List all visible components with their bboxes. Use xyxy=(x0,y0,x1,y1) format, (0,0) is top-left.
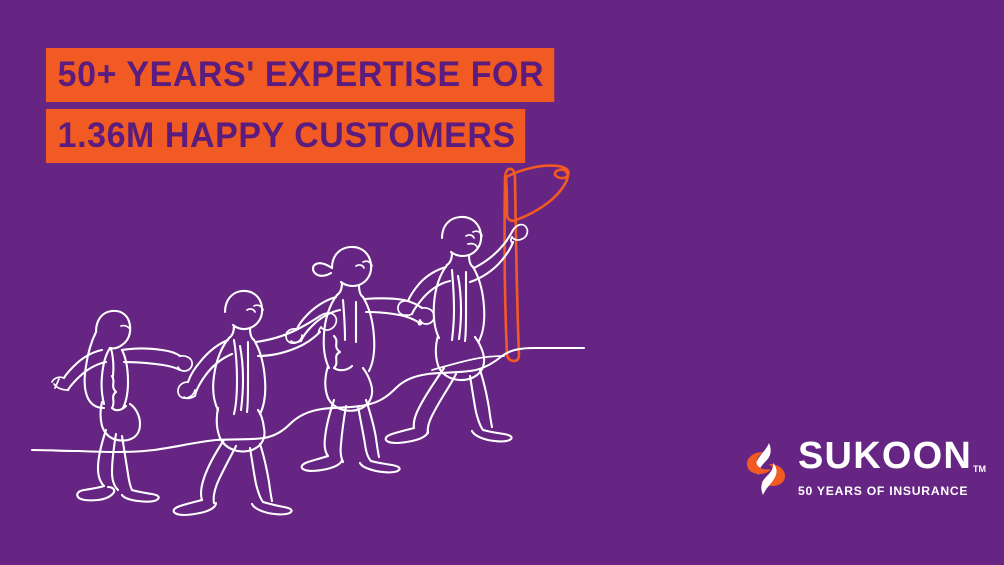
summit-flag-icon xyxy=(505,166,569,361)
sukoon-wordmark: SUKOON TM xyxy=(798,437,972,475)
figure-woman-rear xyxy=(52,311,192,502)
figure-woman-third xyxy=(286,247,434,472)
trademark-symbol: TM xyxy=(973,465,986,474)
sukoon-s-mark-icon xyxy=(742,440,790,498)
headline-block: 50+ YEARS' EXPERTISE FOR 1.36M HAPPY CUS… xyxy=(46,48,570,163)
sukoon-tagline: 50 YEARS OF INSURANCE xyxy=(798,485,972,497)
team-climbing-illustration xyxy=(18,150,598,500)
sukoon-wordmark-text: SUKOON xyxy=(798,435,972,477)
figure-man-second xyxy=(174,291,337,515)
sukoon-logo: SUKOON TM 50 YEARS OF INSURANCE xyxy=(742,437,974,505)
headline-line-1: 50+ YEARS' EXPERTISE FOR xyxy=(46,48,554,102)
brand-banner: 50+ YEARS' EXPERTISE FOR 1.36M HAPPY CUS… xyxy=(0,0,1004,565)
sukoon-text-block: SUKOON TM 50 YEARS OF INSURANCE xyxy=(798,437,974,497)
